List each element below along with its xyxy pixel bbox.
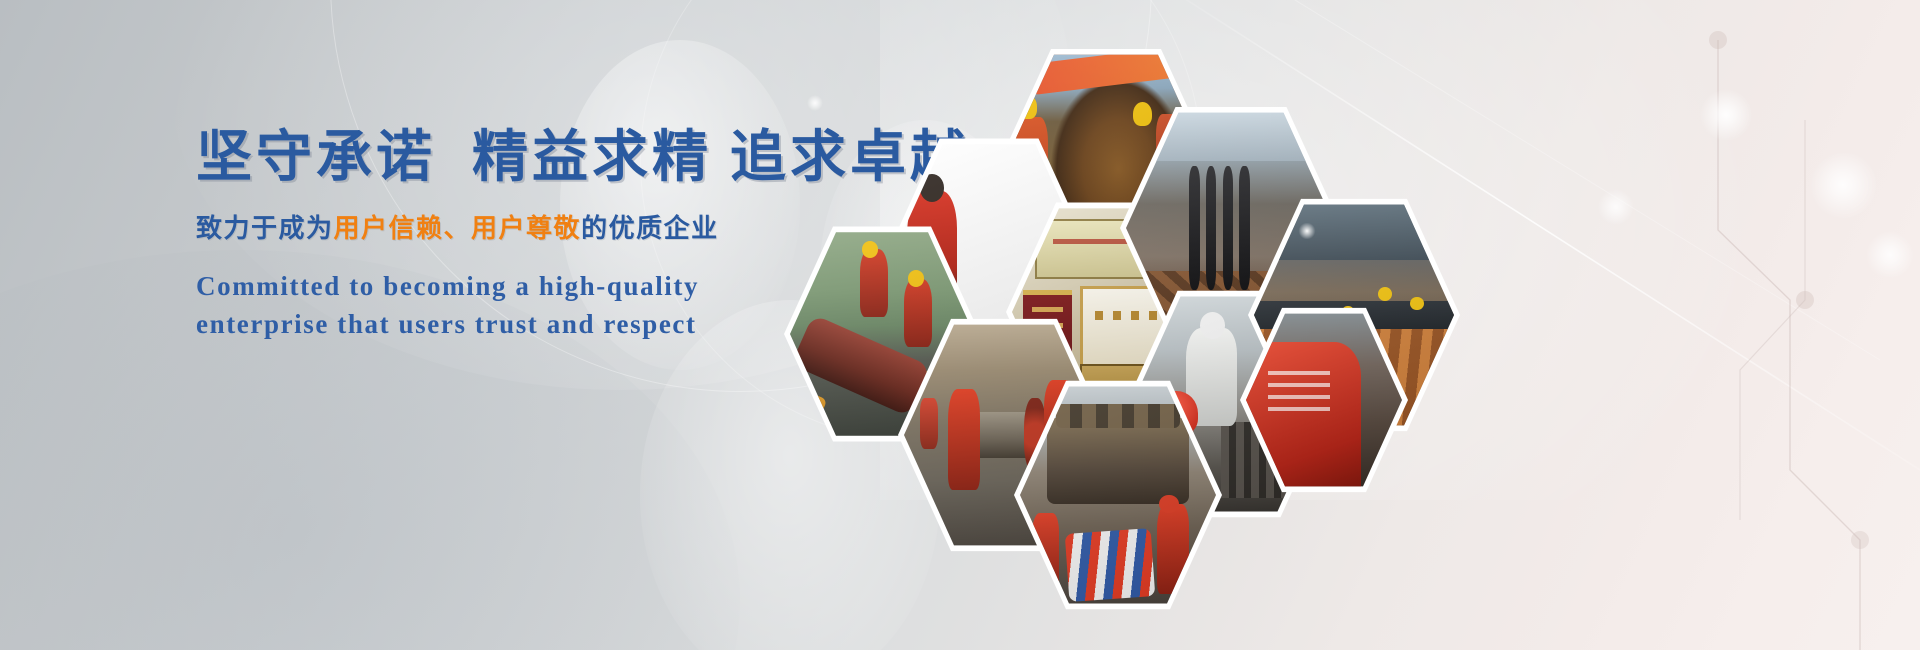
subtitle-highlight-2: 用户尊敬 bbox=[471, 213, 581, 243]
subtitle-suffix: 的优质企业 bbox=[581, 213, 719, 243]
headline-part-1: 坚守承诺 bbox=[196, 125, 436, 188]
subtitle-separator: 、 bbox=[444, 213, 472, 243]
hero-banner: 坚守承诺精益求精追求卓越 致力于成为用户信赖、用户尊敬的优质企业 Committ… bbox=[0, 0, 1920, 650]
subtitle-prefix: 致力于成为 bbox=[196, 213, 334, 243]
headline-part-2: 精益求精 bbox=[472, 125, 712, 188]
subtitle-highlight-1: 用户信赖 bbox=[334, 213, 444, 243]
hexagon-photo-collage bbox=[770, 46, 1900, 566]
